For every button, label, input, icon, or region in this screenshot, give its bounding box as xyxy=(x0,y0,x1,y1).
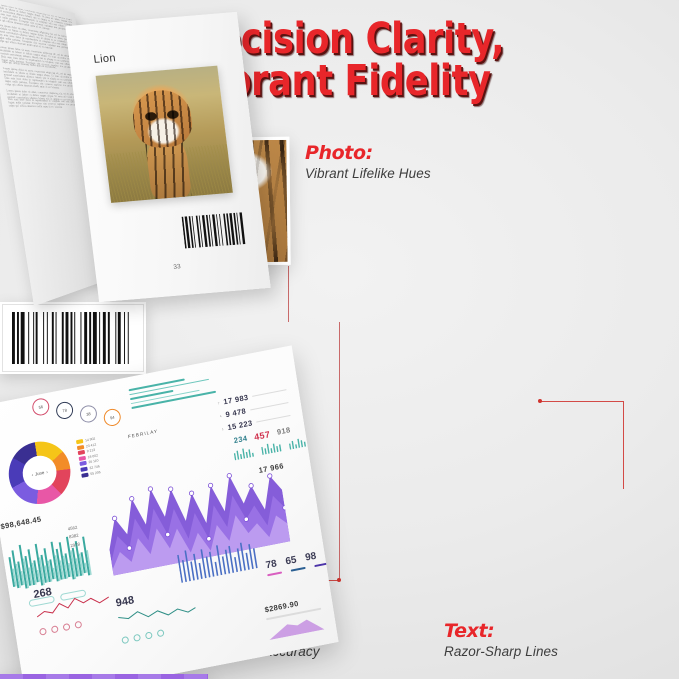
triple-rule xyxy=(314,562,329,567)
barcode-sample-card[interactable] xyxy=(0,302,146,374)
gauge-1-value: 78 xyxy=(62,408,67,414)
gauge-1[interactable]: 78 xyxy=(55,400,74,420)
triple-rule xyxy=(267,571,282,576)
tiger-head xyxy=(130,89,195,150)
magazine-spread[interactable]: Lorem ipsum dolor sit amet, consectetur … xyxy=(0,0,248,302)
circle-icon xyxy=(51,625,59,633)
money-value: $2869.90 xyxy=(264,595,320,615)
gauge-2[interactable]: 38 xyxy=(79,404,98,424)
legend-swatch xyxy=(79,456,86,461)
dashboard-sheet[interactable]: 56 78 38 94 ‹ June › $98,648.45 14 xyxy=(0,345,339,679)
triple-number-row: 78 65 98 xyxy=(265,551,317,572)
triple-rule xyxy=(291,567,306,572)
connector-dash-horizontal xyxy=(540,401,624,402)
legend-swatch xyxy=(77,445,84,450)
circle-icon xyxy=(121,636,129,644)
donut-chart[interactable]: ‹ June › xyxy=(4,436,75,509)
sparkbar-group xyxy=(288,434,311,450)
kpi-value: 17 983 xyxy=(223,393,249,407)
donut-next-icon[interactable]: › xyxy=(46,469,48,474)
kpi-inline-2: 918 xyxy=(276,425,291,438)
stat-teal-block: 948 xyxy=(115,583,199,644)
page-number: 33 xyxy=(173,263,181,271)
kpi-rank: 7 xyxy=(217,401,219,405)
article-heading: Lion xyxy=(93,52,117,66)
money-block: $2869.90 xyxy=(264,595,325,645)
legend-swatch xyxy=(76,439,83,444)
kpi-bar xyxy=(256,415,290,423)
legend-swatch xyxy=(81,472,88,477)
donut-center: ‹ June › xyxy=(20,453,59,493)
triple-2: 98 xyxy=(304,551,317,564)
connector-book-vertical xyxy=(339,322,340,580)
circle-icon xyxy=(145,631,153,639)
barcode-bars xyxy=(12,312,134,364)
kpi-rank: 4 xyxy=(219,414,221,418)
callout-text: Text: Razor-Sharp Lines xyxy=(444,622,558,659)
circle-icon xyxy=(157,629,165,637)
connector-photo-vertical xyxy=(288,266,289,322)
money-sparkarea xyxy=(267,613,324,639)
legend-swatch xyxy=(78,450,85,455)
callout-text-title: Text: xyxy=(444,622,558,642)
kpi-bar xyxy=(252,389,286,397)
connector-barcode-dot xyxy=(337,578,341,582)
triple-1: 65 xyxy=(285,554,298,567)
dashboard-section-label: FEBRILAY xyxy=(128,428,159,439)
callout-photo: Photo: Vibrant Lifelike Hues xyxy=(305,144,431,181)
purple-wave-band xyxy=(0,674,208,679)
donut-legend: 14 902 23 412 9 213 18 002 26 110 32 746… xyxy=(76,437,101,479)
poster-canvas: Precision Clarity, Vibrant Fidelity Phot… xyxy=(0,0,679,679)
callout-text-subtitle: Razor-Sharp Lines xyxy=(444,644,558,659)
connector-text-vertical xyxy=(623,401,624,489)
book-barcode-bars xyxy=(182,212,247,248)
article-tiger-photo xyxy=(96,66,233,203)
donut-prev-icon[interactable]: ‹ xyxy=(31,472,33,477)
book-barcode xyxy=(182,212,247,248)
donut-total: $98,648.45 xyxy=(0,508,43,534)
gauge-row: 56 78 38 94 xyxy=(31,384,122,441)
wave-svg xyxy=(0,674,208,679)
circle-icon xyxy=(74,621,82,629)
callout-photo-subtitle: Vibrant Lifelike Hues xyxy=(305,166,431,181)
circle-icon xyxy=(39,627,47,635)
legend-swatch xyxy=(79,461,86,466)
connector-dash-dot xyxy=(538,399,542,403)
kpi-rank: 1 xyxy=(222,426,224,430)
gauge-3-value: 94 xyxy=(110,415,115,421)
legend-swatch xyxy=(80,467,87,472)
kpi-bar xyxy=(250,402,289,411)
kpi-value: 9 478 xyxy=(225,406,247,419)
circle-icon xyxy=(63,623,71,631)
text-sample-card[interactable]: 12 13 14 15 16 17 18 19 20 SCAN ENGINE V… xyxy=(0,674,208,679)
triple-0: 78 xyxy=(265,558,278,571)
gauge-2-value: 38 xyxy=(86,411,91,417)
teal-line-list xyxy=(129,372,222,409)
kpi-inline-1: 457 xyxy=(253,429,270,442)
gauge-0[interactable]: 56 xyxy=(31,397,50,417)
circle-icon xyxy=(133,634,141,642)
kpi-value: 15 223 xyxy=(227,418,253,432)
gauge-3[interactable]: 94 xyxy=(103,407,122,427)
donut-center-label: June xyxy=(35,469,45,476)
gauge-0-value: 56 xyxy=(38,404,43,410)
kpi-inline-0: 234 xyxy=(233,434,248,447)
legend-label: 55 206 xyxy=(90,470,101,476)
magazine-right-page: Lion 33 xyxy=(65,12,270,302)
callout-photo-title: Photo: xyxy=(305,144,431,164)
